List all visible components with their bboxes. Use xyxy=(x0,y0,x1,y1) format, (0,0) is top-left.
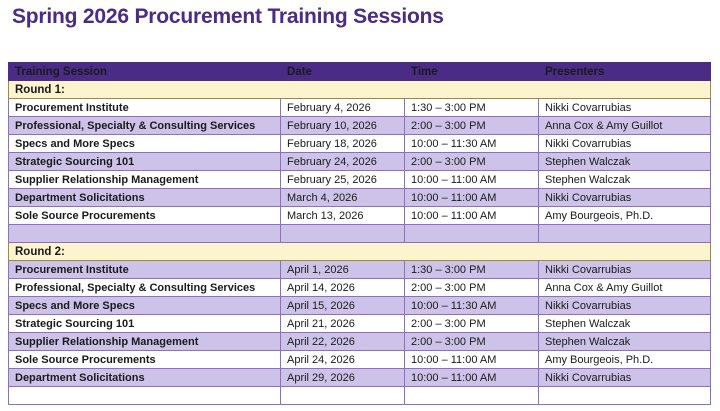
cell-presenters: Nikki Covarrubias xyxy=(539,189,711,207)
section-spacer-row xyxy=(9,225,711,243)
cell-date: February 25, 2026 xyxy=(281,171,405,189)
cell-presenters: Nikki Covarrubias xyxy=(539,99,711,117)
cell-presenters: Amy Bourgeois, Ph.D. xyxy=(539,207,711,225)
cell-presenters: Stephen Walczak xyxy=(539,315,711,333)
cell-date: March 4, 2026 xyxy=(281,189,405,207)
table-row[interactable]: Strategic Sourcing 101February 24, 20262… xyxy=(9,153,711,171)
cell-date: April 22, 2026 xyxy=(281,333,405,351)
cell-time: 10:00 – 11:00 AM xyxy=(405,171,539,189)
cell-presenters: Stephen Walczak xyxy=(539,153,711,171)
cell-time: 10:00 – 11:00 AM xyxy=(405,189,539,207)
cell-time: 1:30 – 3:00 PM xyxy=(405,99,539,117)
cell-presenters: Nikki Covarrubias xyxy=(539,261,711,279)
cell-time: 2:00 – 3:00 PM xyxy=(405,333,539,351)
round-banner-label: Round 2: xyxy=(9,243,711,261)
cell-session: Supplier Relationship Management xyxy=(9,333,281,351)
cell-presenters: Nikki Covarrubias xyxy=(539,297,711,315)
table-row[interactable]: Professional, Specialty & Consulting Ser… xyxy=(9,279,711,297)
cell-time: 10:00 – 11:00 AM xyxy=(405,351,539,369)
cell-date: February 10, 2026 xyxy=(281,117,405,135)
spacer-cell-presenters xyxy=(539,225,711,243)
column-header-time[interactable]: Time xyxy=(405,63,539,81)
round-banner-label: Round 1: xyxy=(9,81,711,99)
cell-session: Sole Source Procurements xyxy=(9,207,281,225)
cell-presenters: Anna Cox & Amy Guillot xyxy=(539,117,711,135)
spacer-cell-session xyxy=(9,225,281,243)
column-header-date[interactable]: Date xyxy=(281,63,405,81)
cell-date: April 14, 2026 xyxy=(281,279,405,297)
section-spacer-row xyxy=(9,387,711,405)
cell-session: Sole Source Procurements xyxy=(9,351,281,369)
table-row[interactable]: Sole Source ProcurementsApril 24, 202610… xyxy=(9,351,711,369)
spacer-cell-date xyxy=(281,225,405,243)
table-row[interactable]: Specs and More SpecsFebruary 18, 202610:… xyxy=(9,135,711,153)
cell-date: February 4, 2026 xyxy=(281,99,405,117)
cell-time: 2:00 – 3:00 PM xyxy=(405,315,539,333)
cell-time: 10:00 – 11:30 AM xyxy=(405,297,539,315)
cell-presenters: Nikki Covarrubias xyxy=(539,135,711,153)
table-body: Round 1:Procurement InstituteFebruary 4,… xyxy=(9,81,711,405)
cell-date: April 24, 2026 xyxy=(281,351,405,369)
cell-session: Supplier Relationship Management xyxy=(9,171,281,189)
cell-time: 10:00 – 11:00 AM xyxy=(405,369,539,387)
cell-time: 2:00 – 3:00 PM xyxy=(405,117,539,135)
cell-date: April 21, 2026 xyxy=(281,315,405,333)
cell-time: 2:00 – 3:00 PM xyxy=(405,279,539,297)
round-banner-row: Round 2: xyxy=(9,243,711,261)
round-banner-row: Round 1: xyxy=(9,81,711,99)
table-row[interactable]: Strategic Sourcing 101April 21, 20262:00… xyxy=(9,315,711,333)
table-row[interactable]: Procurement InstituteFebruary 4, 20261:3… xyxy=(9,99,711,117)
table-row[interactable]: Department SolicitationsMarch 4, 202610:… xyxy=(9,189,711,207)
cell-session: Specs and More Specs xyxy=(9,297,281,315)
cell-time: 1:30 – 3:00 PM xyxy=(405,261,539,279)
cell-date: April 1, 2026 xyxy=(281,261,405,279)
table-header-row: Training Session Date Time Presenters xyxy=(9,63,711,81)
table-row[interactable]: Supplier Relationship ManagementApril 22… xyxy=(9,333,711,351)
spacer-cell-session xyxy=(9,387,281,405)
cell-date: February 24, 2026 xyxy=(281,153,405,171)
cell-date: April 15, 2026 xyxy=(281,297,405,315)
column-header-session[interactable]: Training Session xyxy=(9,63,281,81)
cell-session: Strategic Sourcing 101 xyxy=(9,153,281,171)
cell-session: Specs and More Specs xyxy=(9,135,281,153)
spacer-cell-date xyxy=(281,387,405,405)
cell-session: Professional, Specialty & Consulting Ser… xyxy=(9,279,281,297)
cell-time: 2:00 – 3:00 PM xyxy=(405,153,539,171)
cell-session: Strategic Sourcing 101 xyxy=(9,315,281,333)
cell-presenters: Stephen Walczak xyxy=(539,171,711,189)
training-schedule-table: Training Session Date Time Presenters Ro… xyxy=(8,62,711,405)
cell-presenters: Stephen Walczak xyxy=(539,333,711,351)
table-row[interactable]: Department SolicitationsApril 29, 202610… xyxy=(9,369,711,387)
cell-session: Procurement Institute xyxy=(9,261,281,279)
spacer-cell-time xyxy=(405,225,539,243)
spacer-cell-presenters xyxy=(539,387,711,405)
table-row[interactable]: Procurement InstituteApril 1, 20261:30 –… xyxy=(9,261,711,279)
cell-presenters: Nikki Covarrubias xyxy=(539,369,711,387)
cell-time: 10:00 – 11:30 AM xyxy=(405,135,539,153)
cell-date: April 29, 2026 xyxy=(281,369,405,387)
table-header: Training Session Date Time Presenters xyxy=(9,63,711,81)
cell-presenters: Amy Bourgeois, Ph.D. xyxy=(539,351,711,369)
cell-date: February 18, 2026 xyxy=(281,135,405,153)
cell-presenters: Anna Cox & Amy Guillot xyxy=(539,279,711,297)
spacer-cell-time xyxy=(405,387,539,405)
column-header-presenters[interactable]: Presenters xyxy=(539,63,711,81)
cell-date: March 13, 2026 xyxy=(281,207,405,225)
table-row[interactable]: Specs and More SpecsApril 15, 202610:00 … xyxy=(9,297,711,315)
cell-session: Department Solicitations xyxy=(9,189,281,207)
table-row[interactable]: Sole Source ProcurementsMarch 13, 202610… xyxy=(9,207,711,225)
cell-time: 10:00 – 11:00 AM xyxy=(405,207,539,225)
table-row[interactable]: Supplier Relationship ManagementFebruary… xyxy=(9,171,711,189)
cell-session: Professional, Specialty & Consulting Ser… xyxy=(9,117,281,135)
page-title: Spring 2026 Procurement Training Session… xyxy=(12,5,444,29)
cell-session: Procurement Institute xyxy=(9,99,281,117)
cell-session: Department Solicitations xyxy=(9,369,281,387)
table-row[interactable]: Professional, Specialty & Consulting Ser… xyxy=(9,117,711,135)
